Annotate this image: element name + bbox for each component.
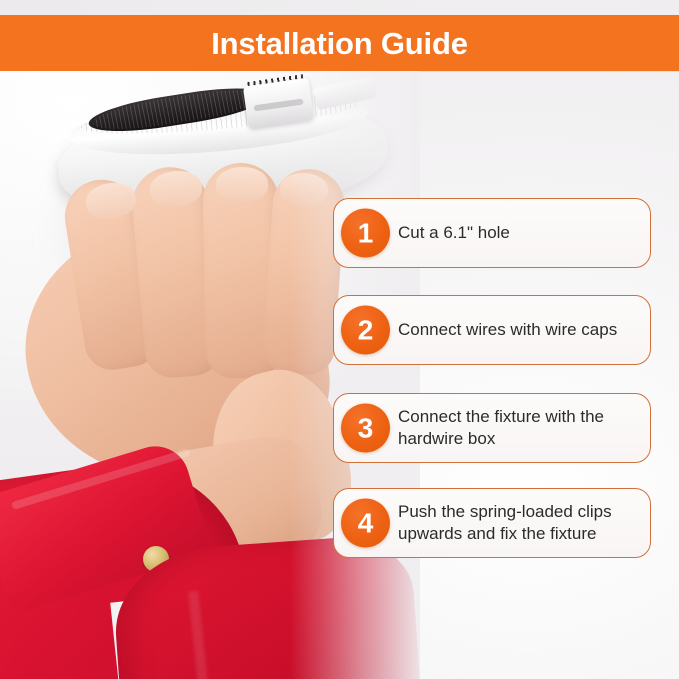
step-card-2: 2 Connect wires with wire caps <box>333 295 651 365</box>
fingernail-ring <box>216 167 269 204</box>
step-card-4: 4 Push the spring-loaded clips upwards a… <box>333 488 651 558</box>
steps-list: 1 Cut a 6.1" hole 2 Connect wires with w… <box>333 198 651 558</box>
step-text-2: Connect wires with wire caps <box>398 319 617 341</box>
step-number-badge-3: 3 <box>341 404 390 453</box>
step-number-badge-4: 4 <box>341 499 390 548</box>
step-text-3: Connect the fixture with the hardwire bo… <box>398 406 604 450</box>
installation-guide-page: Installation Guide <box>0 0 679 679</box>
step-text-1: Cut a 6.1" hole <box>398 222 510 244</box>
step-card-1: 1 Cut a 6.1" hole <box>333 198 651 268</box>
step-number-badge-1: 1 <box>341 209 390 258</box>
page-title: Installation Guide <box>211 28 467 59</box>
step-card-3: 3 Connect the fixture with the hardwire … <box>333 393 651 463</box>
header-banner: Installation Guide <box>0 15 679 71</box>
step-text-4: Push the spring-loaded clips upwards and… <box>398 501 612 545</box>
step-number-badge-2: 2 <box>341 306 390 355</box>
